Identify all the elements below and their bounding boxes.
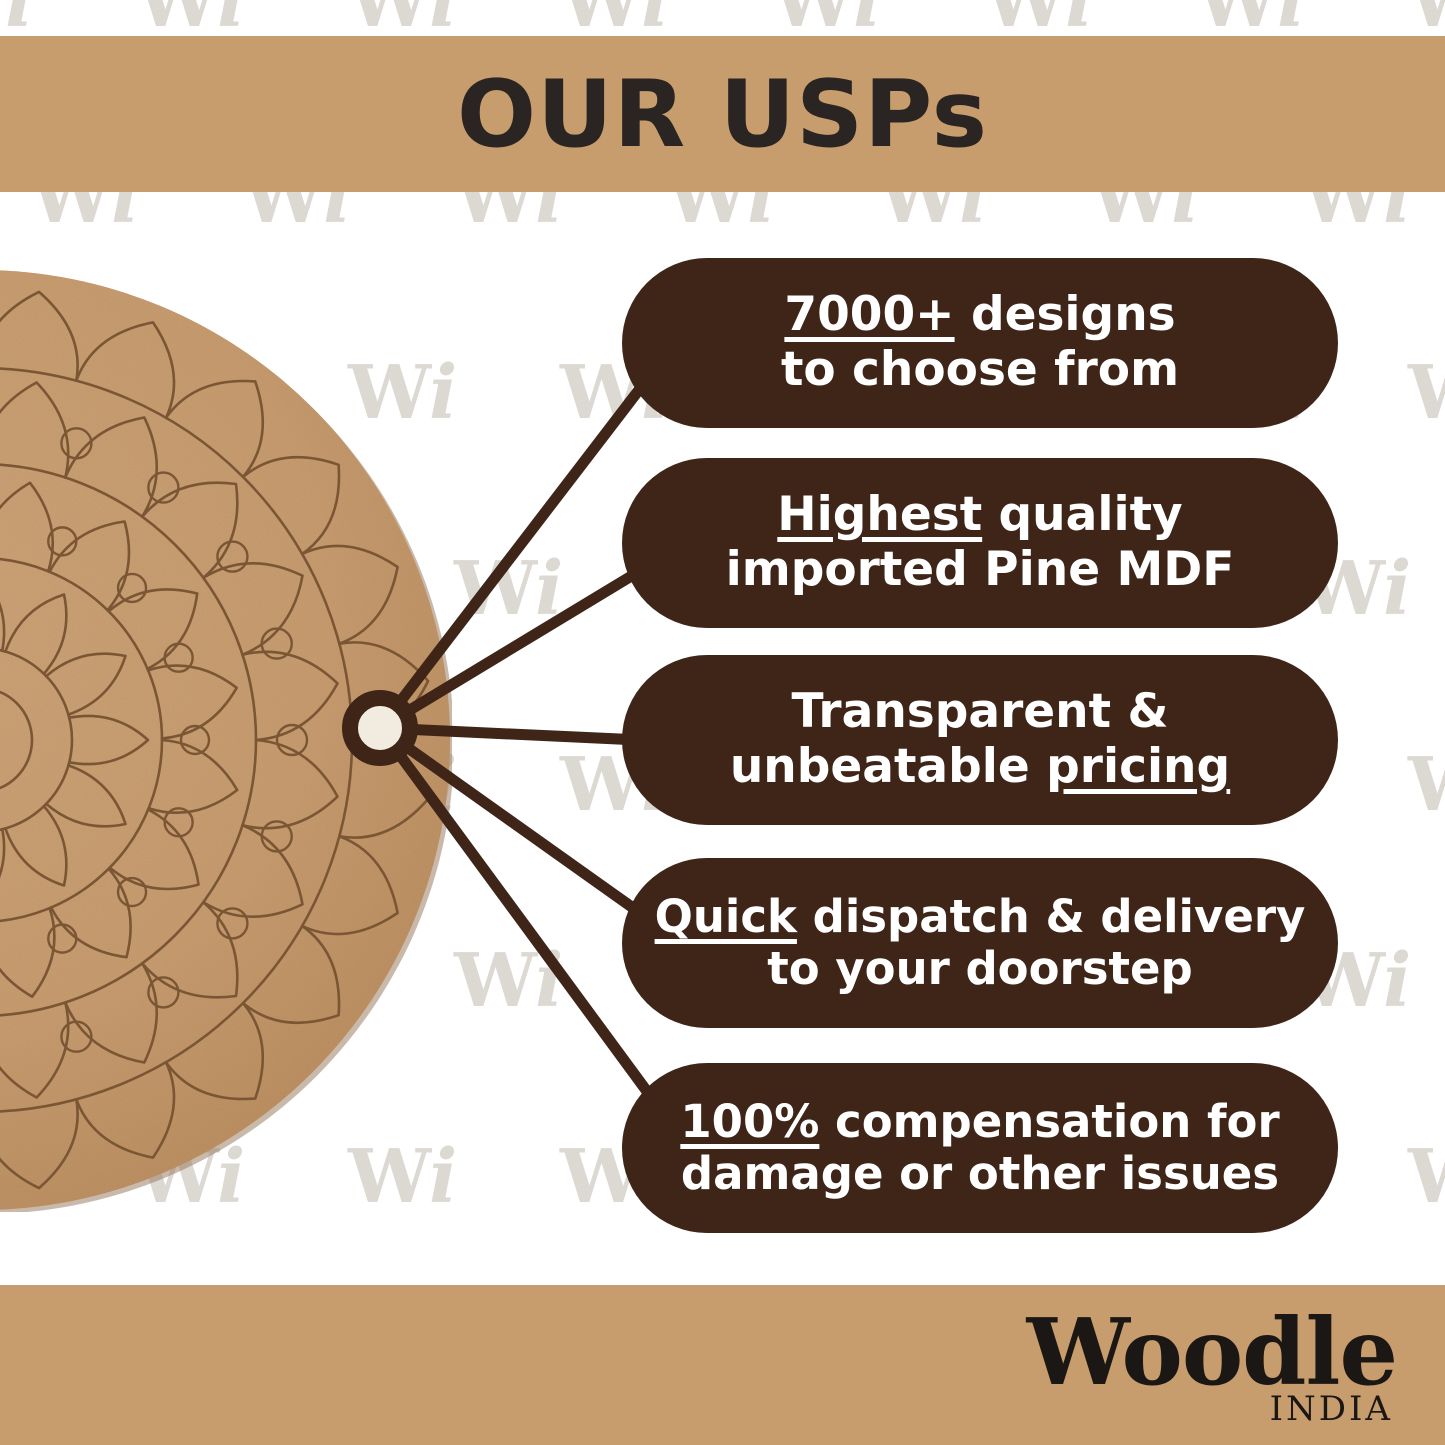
connector-line-3	[380, 728, 640, 740]
usp-3-line-2: unbeatable pricing	[730, 740, 1230, 795]
usp-2-line-2: imported Pine MDF	[726, 543, 1235, 598]
usp-1-line-1: 7000+ designs	[784, 288, 1175, 343]
connector-line-2	[380, 566, 648, 728]
usp-2-line-1: Highest quality	[777, 488, 1182, 543]
usp-pill-4[interactable]: Quick dispatch & deliveryto your doorste…	[622, 858, 1338, 1028]
usp-pill-3[interactable]: Transparent &unbeatable pricing	[622, 655, 1338, 825]
usp-5-line-1: 100% compensation for	[680, 1096, 1279, 1148]
infographic-canvas: WiWiWiWiWiWiWiWiWiWiWiWiWiWiWiWiWiWiWiWi…	[0, 0, 1445, 1445]
connector-line-4	[380, 728, 650, 920]
usp-3-line-1: Transparent &	[792, 685, 1169, 740]
usp-1-line-2: to choose from	[781, 343, 1179, 398]
brand-logo-word: Woodle	[1027, 1306, 1397, 1398]
usp-pill-2[interactable]: Highest qualityimported Pine MDF	[622, 458, 1338, 628]
usp-4-line-2: to your doorstep	[767, 943, 1193, 995]
usp-pill-5[interactable]: 100% compensation fordamage or other iss…	[622, 1063, 1338, 1233]
usp-pill-1[interactable]: 7000+ designsto choose from	[622, 258, 1338, 428]
brand-logo: Woodle INDIA	[1027, 1306, 1397, 1426]
page-title: OUR USPs	[0, 36, 1445, 192]
usp-4-line-1: Quick dispatch & delivery	[655, 891, 1306, 943]
connector-hub	[350, 698, 410, 758]
usp-5-line-2: damage or other issues	[681, 1148, 1279, 1200]
